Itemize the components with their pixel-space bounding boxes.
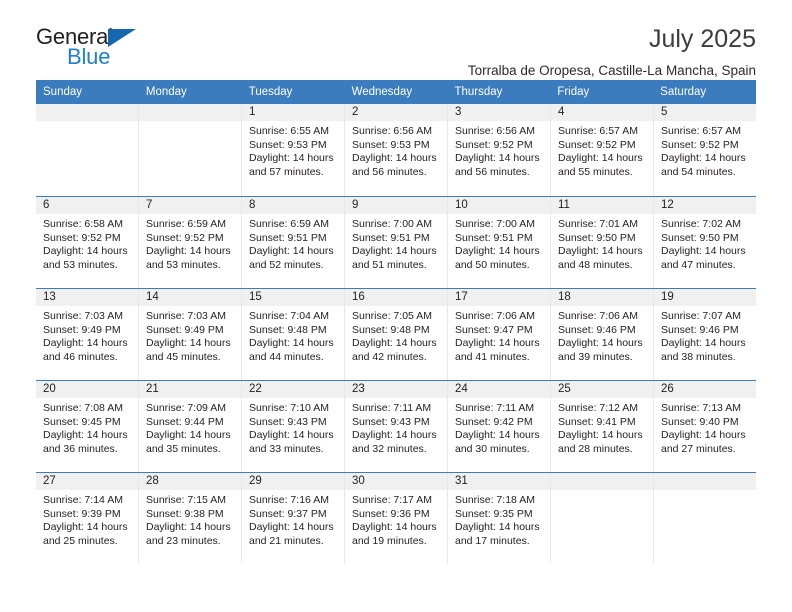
sunset-text: Sunset: 9:38 PM <box>146 508 235 521</box>
calendar-day-cell[interactable]: 9Sunrise: 7:00 AMSunset: 9:51 PMDaylight… <box>345 197 448 288</box>
daylight-text-line2: and 36 minutes. <box>43 443 132 456</box>
daylight-text-line1: Daylight: 14 hours <box>558 429 647 442</box>
sunset-text: Sunset: 9:43 PM <box>249 416 338 429</box>
day-number <box>139 104 241 121</box>
weekday-header-thursday: Thursday <box>447 80 550 104</box>
day-number: 3 <box>448 104 550 121</box>
sunrise-text: Sunrise: 6:56 AM <box>455 125 544 138</box>
weekday-header-wednesday: Wednesday <box>345 80 448 104</box>
daylight-text-line2: and 19 minutes. <box>352 535 441 548</box>
daylight-text-line2: and 28 minutes. <box>558 443 647 456</box>
sunrise-text: Sunrise: 7:17 AM <box>352 494 441 507</box>
daylight-text-line1: Daylight: 14 hours <box>352 429 441 442</box>
page-header: General Blue July 2025 Torralba de Orope… <box>36 0 756 68</box>
sunrise-text: Sunrise: 7:15 AM <box>146 494 235 507</box>
calendar-day-cell[interactable]: 6Sunrise: 6:58 AMSunset: 9:52 PMDaylight… <box>36 197 139 288</box>
day-details: Sunrise: 7:11 AMSunset: 9:43 PMDaylight:… <box>345 398 447 456</box>
day-details: Sunrise: 7:12 AMSunset: 9:41 PMDaylight:… <box>551 398 653 456</box>
day-details: Sunrise: 7:15 AMSunset: 9:38 PMDaylight:… <box>139 490 241 548</box>
daylight-text-line2: and 21 minutes. <box>249 535 338 548</box>
calendar-grid: Sunday Monday Tuesday Wednesday Thursday… <box>36 80 756 564</box>
daylight-text-line1: Daylight: 14 hours <box>455 429 544 442</box>
calendar-day-cell[interactable]: 8Sunrise: 6:59 AMSunset: 9:51 PMDaylight… <box>242 197 345 288</box>
logo-text-blue: Blue <box>67 46 110 68</box>
weekday-header-saturday: Saturday <box>653 80 756 104</box>
calendar-day-cell[interactable]: 13Sunrise: 7:03 AMSunset: 9:49 PMDayligh… <box>36 289 139 380</box>
daylight-text-line1: Daylight: 14 hours <box>43 337 132 350</box>
daylight-text-line1: Daylight: 14 hours <box>43 521 132 534</box>
calendar-day-cell-empty <box>654 473 756 564</box>
calendar-day-cell[interactable]: 12Sunrise: 7:02 AMSunset: 9:50 PMDayligh… <box>654 197 756 288</box>
day-number: 24 <box>448 381 550 398</box>
sunset-text: Sunset: 9:52 PM <box>558 139 647 152</box>
sunrise-text: Sunrise: 6:59 AM <box>146 218 235 231</box>
day-details: Sunrise: 7:04 AMSunset: 9:48 PMDaylight:… <box>242 306 344 364</box>
daylight-text-line1: Daylight: 14 hours <box>43 429 132 442</box>
daylight-text-line2: and 38 minutes. <box>661 351 750 364</box>
sunset-text: Sunset: 9:52 PM <box>661 139 750 152</box>
calendar-week-row: 6Sunrise: 6:58 AMSunset: 9:52 PMDaylight… <box>36 196 756 288</box>
daylight-text-line2: and 39 minutes. <box>558 351 647 364</box>
sunrise-text: Sunrise: 7:06 AM <box>455 310 544 323</box>
daylight-text-line1: Daylight: 14 hours <box>455 521 544 534</box>
sunset-text: Sunset: 9:51 PM <box>455 232 544 245</box>
title-block: July 2025 Torralba de Oropesa, Castille-… <box>468 26 756 78</box>
day-number: 21 <box>139 381 241 398</box>
day-number <box>551 473 653 490</box>
sunrise-text: Sunrise: 7:16 AM <box>249 494 338 507</box>
day-number: 23 <box>345 381 447 398</box>
daylight-text-line1: Daylight: 14 hours <box>249 429 338 442</box>
daylight-text-line1: Daylight: 14 hours <box>352 337 441 350</box>
day-details: Sunrise: 6:56 AMSunset: 9:53 PMDaylight:… <box>345 121 447 179</box>
calendar-day-cell[interactable]: 16Sunrise: 7:05 AMSunset: 9:48 PMDayligh… <box>345 289 448 380</box>
sunrise-text: Sunrise: 7:10 AM <box>249 402 338 415</box>
sunset-text: Sunset: 9:42 PM <box>455 416 544 429</box>
day-details: Sunrise: 7:01 AMSunset: 9:50 PMDaylight:… <box>551 214 653 272</box>
weekday-header-tuesday: Tuesday <box>242 80 345 104</box>
day-details: Sunrise: 7:11 AMSunset: 9:42 PMDaylight:… <box>448 398 550 456</box>
daylight-text-line1: Daylight: 14 hours <box>455 245 544 258</box>
day-number: 30 <box>345 473 447 490</box>
sunrise-text: Sunrise: 7:09 AM <box>146 402 235 415</box>
day-details: Sunrise: 6:56 AMSunset: 9:52 PMDaylight:… <box>448 121 550 179</box>
daylight-text-line1: Daylight: 14 hours <box>249 521 338 534</box>
calendar-weeks: 1Sunrise: 6:55 AMSunset: 9:53 PMDaylight… <box>36 104 756 564</box>
daylight-text-line2: and 42 minutes. <box>352 351 441 364</box>
location-subtitle: Torralba de Oropesa, Castille-La Mancha,… <box>468 64 756 79</box>
sunset-text: Sunset: 9:50 PM <box>558 232 647 245</box>
daylight-text-line2: and 25 minutes. <box>43 535 132 548</box>
day-details: Sunrise: 6:57 AMSunset: 9:52 PMDaylight:… <box>654 121 756 179</box>
daylight-text-line1: Daylight: 14 hours <box>146 245 235 258</box>
sunset-text: Sunset: 9:53 PM <box>352 139 441 152</box>
calendar-day-cell[interactable]: 31Sunrise: 7:18 AMSunset: 9:35 PMDayligh… <box>448 473 551 564</box>
day-number <box>654 473 756 490</box>
sunrise-text: Sunrise: 7:03 AM <box>43 310 132 323</box>
sunset-text: Sunset: 9:39 PM <box>43 508 132 521</box>
daylight-text-line2: and 35 minutes. <box>146 443 235 456</box>
daylight-text-line1: Daylight: 14 hours <box>352 245 441 258</box>
daylight-text-line1: Daylight: 14 hours <box>249 245 338 258</box>
daylight-text-line2: and 52 minutes. <box>249 259 338 272</box>
daylight-text-line2: and 30 minutes. <box>455 443 544 456</box>
day-details: Sunrise: 7:00 AMSunset: 9:51 PMDaylight:… <box>448 214 550 272</box>
daylight-text-line1: Daylight: 14 hours <box>661 429 750 442</box>
day-details: Sunrise: 7:08 AMSunset: 9:45 PMDaylight:… <box>36 398 138 456</box>
general-blue-logo[interactable]: General Blue <box>36 26 148 72</box>
calendar-day-cell[interactable]: 30Sunrise: 7:17 AMSunset: 9:36 PMDayligh… <box>345 473 448 564</box>
calendar-day-cell[interactable]: 18Sunrise: 7:06 AMSunset: 9:46 PMDayligh… <box>551 289 654 380</box>
daylight-text-line2: and 53 minutes. <box>43 259 132 272</box>
day-number: 31 <box>448 473 550 490</box>
day-number: 27 <box>36 473 138 490</box>
daylight-text-line1: Daylight: 14 hours <box>146 429 235 442</box>
daylight-text-line2: and 54 minutes. <box>661 166 750 179</box>
daylight-text-line2: and 45 minutes. <box>146 351 235 364</box>
calendar-day-cell[interactable]: 19Sunrise: 7:07 AMSunset: 9:46 PMDayligh… <box>654 289 756 380</box>
calendar-page: General Blue July 2025 Torralba de Orope… <box>0 0 792 612</box>
calendar-week-row: 20Sunrise: 7:08 AMSunset: 9:45 PMDayligh… <box>36 380 756 472</box>
calendar-day-cell[interactable]: 26Sunrise: 7:13 AMSunset: 9:40 PMDayligh… <box>654 381 756 472</box>
logo-triangle-icon <box>108 29 136 47</box>
day-number: 22 <box>242 381 344 398</box>
sunset-text: Sunset: 9:50 PM <box>661 232 750 245</box>
sunset-text: Sunset: 9:45 PM <box>43 416 132 429</box>
day-details: Sunrise: 7:18 AMSunset: 9:35 PMDaylight:… <box>448 490 550 548</box>
daylight-text-line2: and 47 minutes. <box>661 259 750 272</box>
daylight-text-line1: Daylight: 14 hours <box>661 245 750 258</box>
daylight-text-line2: and 51 minutes. <box>352 259 441 272</box>
day-details: Sunrise: 7:03 AMSunset: 9:49 PMDaylight:… <box>36 306 138 364</box>
sunset-text: Sunset: 9:49 PM <box>43 324 132 337</box>
daylight-text-line1: Daylight: 14 hours <box>249 152 338 165</box>
daylight-text-line1: Daylight: 14 hours <box>455 337 544 350</box>
sunrise-text: Sunrise: 7:11 AM <box>455 402 544 415</box>
day-number <box>36 104 138 121</box>
calendar-day-cell[interactable]: 14Sunrise: 7:03 AMSunset: 9:49 PMDayligh… <box>139 289 242 380</box>
sunset-text: Sunset: 9:35 PM <box>455 508 544 521</box>
sunset-text: Sunset: 9:48 PM <box>352 324 441 337</box>
sunrise-text: Sunrise: 7:00 AM <box>455 218 544 231</box>
day-number: 2 <box>345 104 447 121</box>
sunrise-text: Sunrise: 7:00 AM <box>352 218 441 231</box>
calendar-day-cell[interactable]: 10Sunrise: 7:00 AMSunset: 9:51 PMDayligh… <box>448 197 551 288</box>
calendar-day-cell[interactable]: 28Sunrise: 7:15 AMSunset: 9:38 PMDayligh… <box>139 473 242 564</box>
daylight-text-line2: and 33 minutes. <box>249 443 338 456</box>
sunset-text: Sunset: 9:40 PM <box>661 416 750 429</box>
sunrise-text: Sunrise: 7:03 AM <box>146 310 235 323</box>
daylight-text-line2: and 48 minutes. <box>558 259 647 272</box>
sunset-text: Sunset: 9:52 PM <box>43 232 132 245</box>
daylight-text-line2: and 23 minutes. <box>146 535 235 548</box>
calendar-day-cell[interactable]: 11Sunrise: 7:01 AMSunset: 9:50 PMDayligh… <box>551 197 654 288</box>
sunrise-text: Sunrise: 7:05 AM <box>352 310 441 323</box>
calendar-day-cell[interactable]: 25Sunrise: 7:12 AMSunset: 9:41 PMDayligh… <box>551 381 654 472</box>
day-number: 1 <box>242 104 344 121</box>
day-details: Sunrise: 7:05 AMSunset: 9:48 PMDaylight:… <box>345 306 447 364</box>
page-title: July 2025 <box>468 26 756 54</box>
day-details: Sunrise: 7:09 AMSunset: 9:44 PMDaylight:… <box>139 398 241 456</box>
weekday-header-friday: Friday <box>550 80 653 104</box>
day-number: 5 <box>654 104 756 121</box>
daylight-text-line2: and 17 minutes. <box>455 535 544 548</box>
day-details: Sunrise: 7:06 AMSunset: 9:47 PMDaylight:… <box>448 306 550 364</box>
day-details: Sunrise: 7:14 AMSunset: 9:39 PMDaylight:… <box>36 490 138 548</box>
sunrise-text: Sunrise: 7:13 AM <box>661 402 750 415</box>
daylight-text-line1: Daylight: 14 hours <box>352 521 441 534</box>
sunset-text: Sunset: 9:47 PM <box>455 324 544 337</box>
sunrise-text: Sunrise: 7:07 AM <box>661 310 750 323</box>
day-number: 20 <box>36 381 138 398</box>
day-number: 14 <box>139 289 241 306</box>
day-number: 17 <box>448 289 550 306</box>
calendar-day-cell-empty <box>36 104 139 196</box>
daylight-text-line1: Daylight: 14 hours <box>558 337 647 350</box>
calendar-day-cell[interactable]: 27Sunrise: 7:14 AMSunset: 9:39 PMDayligh… <box>36 473 139 564</box>
calendar-day-cell[interactable]: 23Sunrise: 7:11 AMSunset: 9:43 PMDayligh… <box>345 381 448 472</box>
daylight-text-line1: Daylight: 14 hours <box>43 245 132 258</box>
weekday-header-sunday: Sunday <box>36 80 139 104</box>
sunset-text: Sunset: 9:48 PM <box>249 324 338 337</box>
day-number: 25 <box>551 381 653 398</box>
sunrise-text: Sunrise: 6:58 AM <box>43 218 132 231</box>
sunrise-text: Sunrise: 7:14 AM <box>43 494 132 507</box>
calendar-day-cell[interactable]: 21Sunrise: 7:09 AMSunset: 9:44 PMDayligh… <box>139 381 242 472</box>
calendar-day-cell[interactable]: 4Sunrise: 6:57 AMSunset: 9:52 PMDaylight… <box>551 104 654 196</box>
daylight-text-line1: Daylight: 14 hours <box>249 337 338 350</box>
day-details: Sunrise: 6:59 AMSunset: 9:51 PMDaylight:… <box>242 214 344 272</box>
sunrise-text: Sunrise: 7:02 AM <box>661 218 750 231</box>
calendar-day-cell[interactable]: 5Sunrise: 6:57 AMSunset: 9:52 PMDaylight… <box>654 104 756 196</box>
calendar-week-row: 27Sunrise: 7:14 AMSunset: 9:39 PMDayligh… <box>36 472 756 564</box>
daylight-text-line2: and 27 minutes. <box>661 443 750 456</box>
day-number: 18 <box>551 289 653 306</box>
daylight-text-line2: and 50 minutes. <box>455 259 544 272</box>
sunrise-text: Sunrise: 7:18 AM <box>455 494 544 507</box>
day-number: 6 <box>36 197 138 214</box>
daylight-text-line1: Daylight: 14 hours <box>146 337 235 350</box>
day-number: 16 <box>345 289 447 306</box>
sunrise-text: Sunrise: 7:06 AM <box>558 310 647 323</box>
sunrise-text: Sunrise: 7:01 AM <box>558 218 647 231</box>
daylight-text-line1: Daylight: 14 hours <box>146 521 235 534</box>
sunset-text: Sunset: 9:49 PM <box>146 324 235 337</box>
sunset-text: Sunset: 9:51 PM <box>249 232 338 245</box>
sunrise-text: Sunrise: 6:57 AM <box>558 125 647 138</box>
calendar-day-cell[interactable]: 1Sunrise: 6:55 AMSunset: 9:53 PMDaylight… <box>242 104 345 196</box>
sunrise-text: Sunrise: 7:08 AM <box>43 402 132 415</box>
day-details: Sunrise: 7:03 AMSunset: 9:49 PMDaylight:… <box>139 306 241 364</box>
weekday-header-row: Sunday Monday Tuesday Wednesday Thursday… <box>36 80 756 104</box>
calendar-week-row: 1Sunrise: 6:55 AMSunset: 9:53 PMDaylight… <box>36 104 756 196</box>
day-number: 15 <box>242 289 344 306</box>
calendar-day-cell[interactable]: 17Sunrise: 7:06 AMSunset: 9:47 PMDayligh… <box>448 289 551 380</box>
day-details: Sunrise: 7:07 AMSunset: 9:46 PMDaylight:… <box>654 306 756 364</box>
calendar-day-cell-empty <box>551 473 654 564</box>
day-number: 9 <box>345 197 447 214</box>
calendar-day-cell[interactable]: 3Sunrise: 6:56 AMSunset: 9:52 PMDaylight… <box>448 104 551 196</box>
daylight-text-line1: Daylight: 14 hours <box>558 152 647 165</box>
daylight-text-line2: and 56 minutes. <box>352 166 441 179</box>
daylight-text-line1: Daylight: 14 hours <box>558 245 647 258</box>
daylight-text-line2: and 32 minutes. <box>352 443 441 456</box>
day-details: Sunrise: 6:55 AMSunset: 9:53 PMDaylight:… <box>242 121 344 179</box>
sunrise-text: Sunrise: 6:59 AM <box>249 218 338 231</box>
day-number: 7 <box>139 197 241 214</box>
daylight-text-line2: and 56 minutes. <box>455 166 544 179</box>
sunset-text: Sunset: 9:52 PM <box>455 139 544 152</box>
day-details: Sunrise: 6:58 AMSunset: 9:52 PMDaylight:… <box>36 214 138 272</box>
sunset-text: Sunset: 9:46 PM <box>661 324 750 337</box>
daylight-text-line2: and 57 minutes. <box>249 166 338 179</box>
day-details: Sunrise: 6:59 AMSunset: 9:52 PMDaylight:… <box>139 214 241 272</box>
daylight-text-line2: and 53 minutes. <box>146 259 235 272</box>
day-number: 12 <box>654 197 756 214</box>
calendar-day-cell[interactable]: 24Sunrise: 7:11 AMSunset: 9:42 PMDayligh… <box>448 381 551 472</box>
calendar-week-row: 13Sunrise: 7:03 AMSunset: 9:49 PMDayligh… <box>36 288 756 380</box>
sunrise-text: Sunrise: 6:55 AM <box>249 125 338 138</box>
day-details: Sunrise: 7:06 AMSunset: 9:46 PMDaylight:… <box>551 306 653 364</box>
sunset-text: Sunset: 9:36 PM <box>352 508 441 521</box>
day-details: Sunrise: 7:10 AMSunset: 9:43 PMDaylight:… <box>242 398 344 456</box>
daylight-text-line1: Daylight: 14 hours <box>455 152 544 165</box>
day-details: Sunrise: 7:00 AMSunset: 9:51 PMDaylight:… <box>345 214 447 272</box>
day-details: Sunrise: 6:57 AMSunset: 9:52 PMDaylight:… <box>551 121 653 179</box>
daylight-text-line1: Daylight: 14 hours <box>352 152 441 165</box>
sunrise-text: Sunrise: 7:12 AM <box>558 402 647 415</box>
sunset-text: Sunset: 9:53 PM <box>249 139 338 152</box>
daylight-text-line2: and 46 minutes. <box>43 351 132 364</box>
daylight-text-line1: Daylight: 14 hours <box>661 337 750 350</box>
sunset-text: Sunset: 9:44 PM <box>146 416 235 429</box>
sunrise-text: Sunrise: 6:56 AM <box>352 125 441 138</box>
day-details: Sunrise: 7:13 AMSunset: 9:40 PMDaylight:… <box>654 398 756 456</box>
day-number: 26 <box>654 381 756 398</box>
day-details: Sunrise: 7:16 AMSunset: 9:37 PMDaylight:… <box>242 490 344 548</box>
day-number: 29 <box>242 473 344 490</box>
calendar-day-cell[interactable]: 22Sunrise: 7:10 AMSunset: 9:43 PMDayligh… <box>242 381 345 472</box>
day-details: Sunrise: 7:17 AMSunset: 9:36 PMDaylight:… <box>345 490 447 548</box>
sunrise-text: Sunrise: 7:04 AM <box>249 310 338 323</box>
sunset-text: Sunset: 9:51 PM <box>352 232 441 245</box>
daylight-text-line1: Daylight: 14 hours <box>661 152 750 165</box>
sunrise-text: Sunrise: 7:11 AM <box>352 402 441 415</box>
weekday-header-monday: Monday <box>139 80 242 104</box>
day-number: 28 <box>139 473 241 490</box>
day-details: Sunrise: 7:02 AMSunset: 9:50 PMDaylight:… <box>654 214 756 272</box>
calendar-day-cell[interactable]: 20Sunrise: 7:08 AMSunset: 9:45 PMDayligh… <box>36 381 139 472</box>
daylight-text-line2: and 55 minutes. <box>558 166 647 179</box>
day-number: 13 <box>36 289 138 306</box>
sunset-text: Sunset: 9:43 PM <box>352 416 441 429</box>
calendar-day-cell[interactable]: 29Sunrise: 7:16 AMSunset: 9:37 PMDayligh… <box>242 473 345 564</box>
calendar-day-cell[interactable]: 2Sunrise: 6:56 AMSunset: 9:53 PMDaylight… <box>345 104 448 196</box>
calendar-day-cell[interactable]: 7Sunrise: 6:59 AMSunset: 9:52 PMDaylight… <box>139 197 242 288</box>
calendar-day-cell[interactable]: 15Sunrise: 7:04 AMSunset: 9:48 PMDayligh… <box>242 289 345 380</box>
sunrise-text: Sunrise: 6:57 AM <box>661 125 750 138</box>
daylight-text-line2: and 44 minutes. <box>249 351 338 364</box>
sunset-text: Sunset: 9:52 PM <box>146 232 235 245</box>
day-number: 10 <box>448 197 550 214</box>
sunset-text: Sunset: 9:37 PM <box>249 508 338 521</box>
calendar-day-cell-empty <box>139 104 242 196</box>
sunset-text: Sunset: 9:41 PM <box>558 416 647 429</box>
day-number: 19 <box>654 289 756 306</box>
day-number: 11 <box>551 197 653 214</box>
day-number: 4 <box>551 104 653 121</box>
daylight-text-line2: and 41 minutes. <box>455 351 544 364</box>
sunset-text: Sunset: 9:46 PM <box>558 324 647 337</box>
day-number: 8 <box>242 197 344 214</box>
